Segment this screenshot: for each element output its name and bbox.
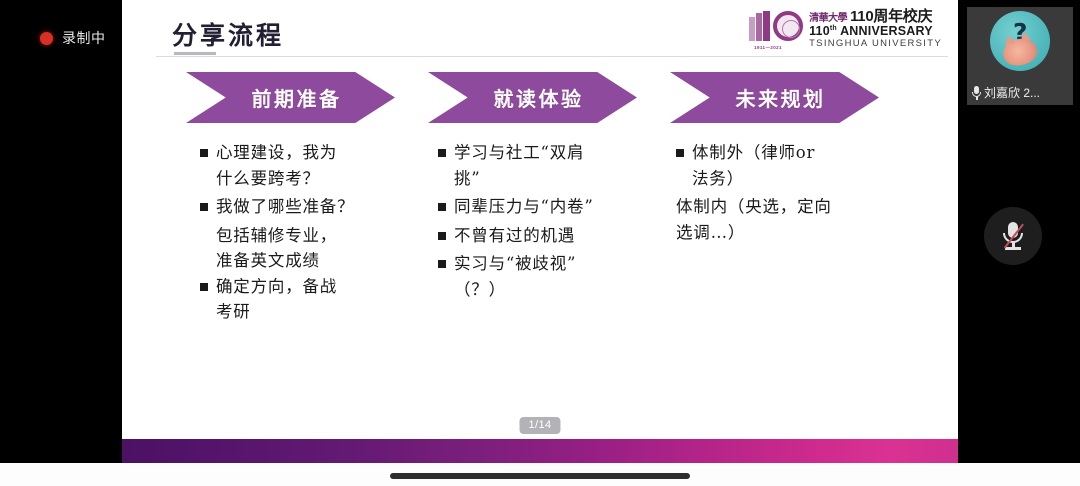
screen: 录制中 分享流程 1911—2021 — [0, 0, 1080, 486]
page-indicator: 1/14 — [519, 417, 560, 434]
list-item-text: 学习与社工“双肩 挑” — [454, 140, 584, 191]
list-item-text: 确定方向，备战 考研 — [216, 274, 337, 325]
list-item: 心理建设，我为 什么要跨考？ — [200, 140, 438, 191]
participant-name-row: 刘嘉欣 2... — [967, 84, 1073, 101]
participant-video-tile[interactable]: ? 刘嘉欣 2... — [967, 7, 1073, 105]
avatar-cat-figure-icon — [1001, 36, 1040, 69]
title-underline — [174, 52, 216, 55]
logo-cn-anniversary: 110周年校庆 — [850, 9, 932, 25]
bullet-marker-icon — [200, 194, 216, 220]
list-item-text: 心理建设，我为 什么要跨考？ — [216, 140, 337, 191]
column-future-plan: 体制外（律师or 法务） 体制内（央选，定向 选调…） — [676, 140, 926, 328]
bullet-marker-icon — [438, 223, 454, 249]
list-item: 我做了哪些准备？ — [200, 194, 438, 220]
logo-mark-icon: 1911—2021 — [749, 8, 803, 50]
bullet-marker-icon — [200, 140, 216, 191]
logo-en-word: ANNIVERSARY — [837, 24, 933, 38]
list-item-text: 实习与“被歧视” （？） — [454, 251, 576, 302]
stage-chevron-3: 未来规划 — [670, 72, 879, 123]
system-home-strip — [0, 463, 1080, 486]
logo-en-number: 110 — [809, 24, 830, 38]
column-preparation: 心理建设，我为 什么要跨考？ 我做了哪些准备？ 包括辅修专业， 准备英文成绩 确… — [200, 140, 438, 328]
list-item-text: 我做了哪些准备？ — [216, 194, 354, 220]
slide-content: 分享流程 1911—2021 清華大學 110周年校庆 — [122, 0, 958, 439]
slide-footer-bar — [122, 439, 958, 463]
list-item-text: 不曾有过的机遇 — [454, 223, 575, 249]
bullet-marker-icon — [676, 140, 692, 191]
stage-label-3: 未来规划 — [736, 83, 826, 112]
stage-label-2: 就读体验 — [494, 83, 584, 112]
home-indicator-bar[interactable] — [390, 473, 690, 479]
list-item: 实习与“被歧视” （？） — [438, 251, 676, 302]
list-item: 不曾有过的机遇 — [438, 223, 676, 249]
list-item-plain-text: 体制内（央选，定向 选调…） — [676, 194, 926, 245]
stage-label-1: 前期准备 — [252, 83, 342, 112]
presentation-slide[interactable]: 分享流程 1911—2021 清華大學 110周年校庆 — [122, 0, 958, 463]
slide-title: 分享流程 — [172, 16, 284, 52]
microphone-icon — [971, 86, 982, 100]
bullet-marker-icon — [438, 140, 454, 191]
list-item: 学习与社工“双肩 挑” — [438, 140, 676, 191]
list-item: 体制外（律师or 法务） — [676, 140, 926, 191]
bullet-marker-icon — [438, 251, 454, 302]
list-item: 确定方向，备战 考研 — [200, 274, 438, 325]
column-experience: 学习与社工“双肩 挑” 同辈压力与“内卷” 不曾有过的机遇 实习与“被歧视” （… — [438, 140, 676, 328]
stage-chevron-1: 前期准备 — [186, 72, 395, 123]
avatar: ? — [990, 11, 1050, 71]
recording-indicator: 录制中 — [40, 28, 106, 48]
microphone-muted-icon — [1000, 221, 1026, 251]
participant-name: 刘嘉欣 2... — [984, 84, 1040, 101]
logo-cn-university: 清華大學 — [809, 14, 847, 25]
logo-en-anniversary: 110th ANNIVERSARY — [809, 25, 942, 39]
header-divider — [156, 56, 948, 57]
logo-text-block: 清華大學 110周年校庆 110th ANNIVERSARY TSINGHUA … — [809, 9, 942, 49]
bullet-marker-icon — [438, 194, 454, 220]
record-dot-icon — [40, 32, 53, 45]
content-columns: 心理建设，我为 什么要跨考？ 我做了哪些准备？ 包括辅修专业， 准备英文成绩 确… — [200, 140, 958, 328]
list-item-text: 同辈压力与“内卷” — [454, 194, 594, 220]
logo-en-sup: th — [830, 25, 837, 32]
recording-label: 录制中 — [62, 28, 106, 48]
list-item-text: 体制外（律师or 法务） — [692, 140, 815, 191]
list-item-subtext: 包括辅修专业， 准备英文成绩 — [216, 223, 438, 274]
mute-toggle-button[interactable] — [984, 207, 1042, 265]
bullet-marker-icon — [200, 274, 216, 325]
logo-seal-icon — [773, 11, 803, 41]
stage-chevrons: 前期准备 就读体验 未来规划 — [186, 72, 879, 123]
list-item: 同辈压力与“内卷” — [438, 194, 676, 220]
stage-chevron-2: 就读体验 — [428, 72, 637, 123]
logo-years: 1911—2021 — [754, 45, 782, 50]
tsinghua-anniversary-logo: 1911—2021 清華大學 110周年校庆 110th ANNIVERSARY… — [749, 8, 942, 50]
logo-en-university: TSINGHUA UNIVERSITY — [809, 39, 942, 49]
